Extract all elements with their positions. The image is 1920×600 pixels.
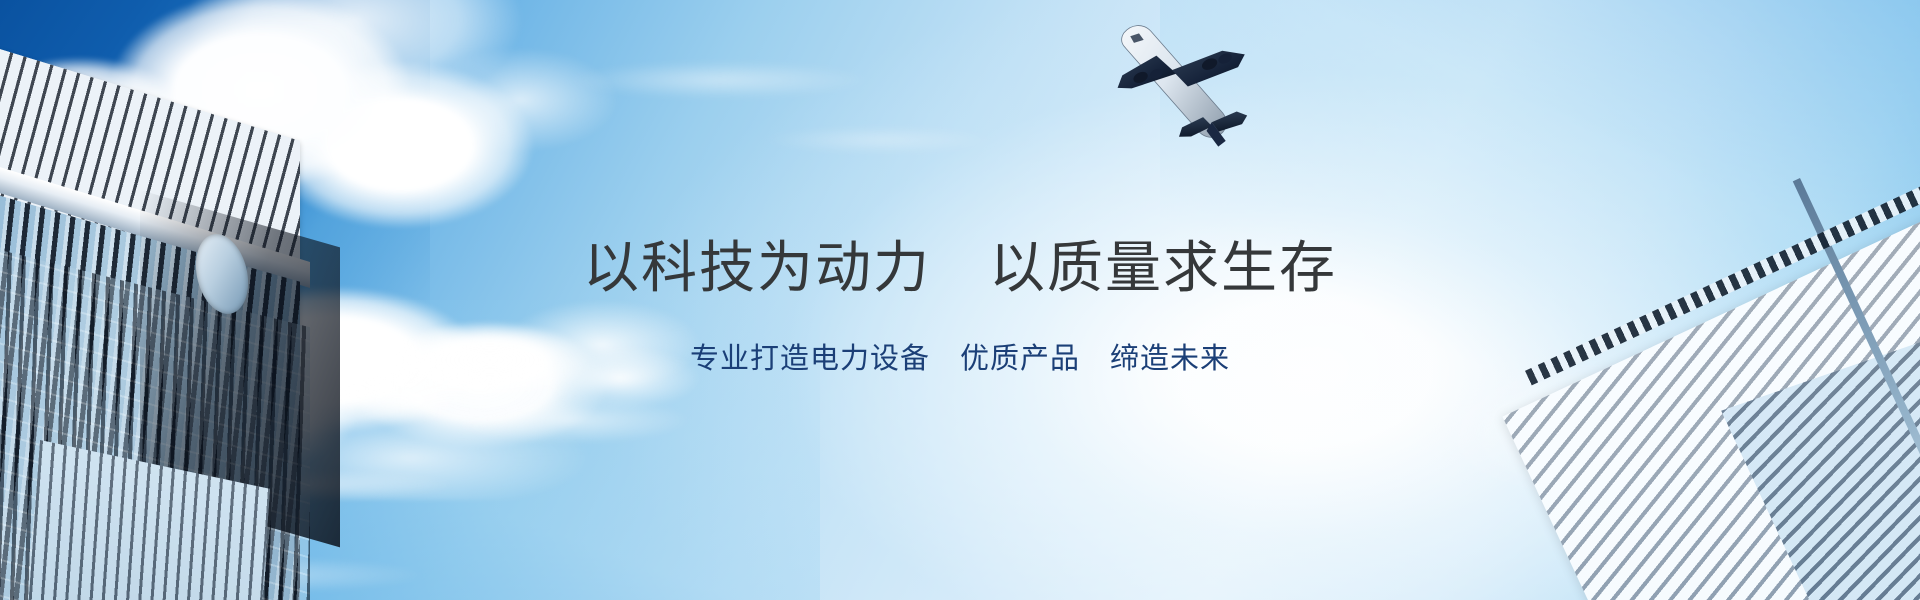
hero-banner: 以科技为动力 以质量求生存 专业打造电力设备 优质产品 缔造未来 [0,0,1920,600]
banner-headline: 以科技为动力 以质量求生存 [0,238,1920,301]
airplane-icon [1100,0,1286,176]
banner-subline: 专业打造电力设备 优质产品 缔造未来 [0,301,1920,377]
banner-text-block: 以科技为动力 以质量求生存 专业打造电力设备 优质产品 缔造未来 [0,238,1920,377]
